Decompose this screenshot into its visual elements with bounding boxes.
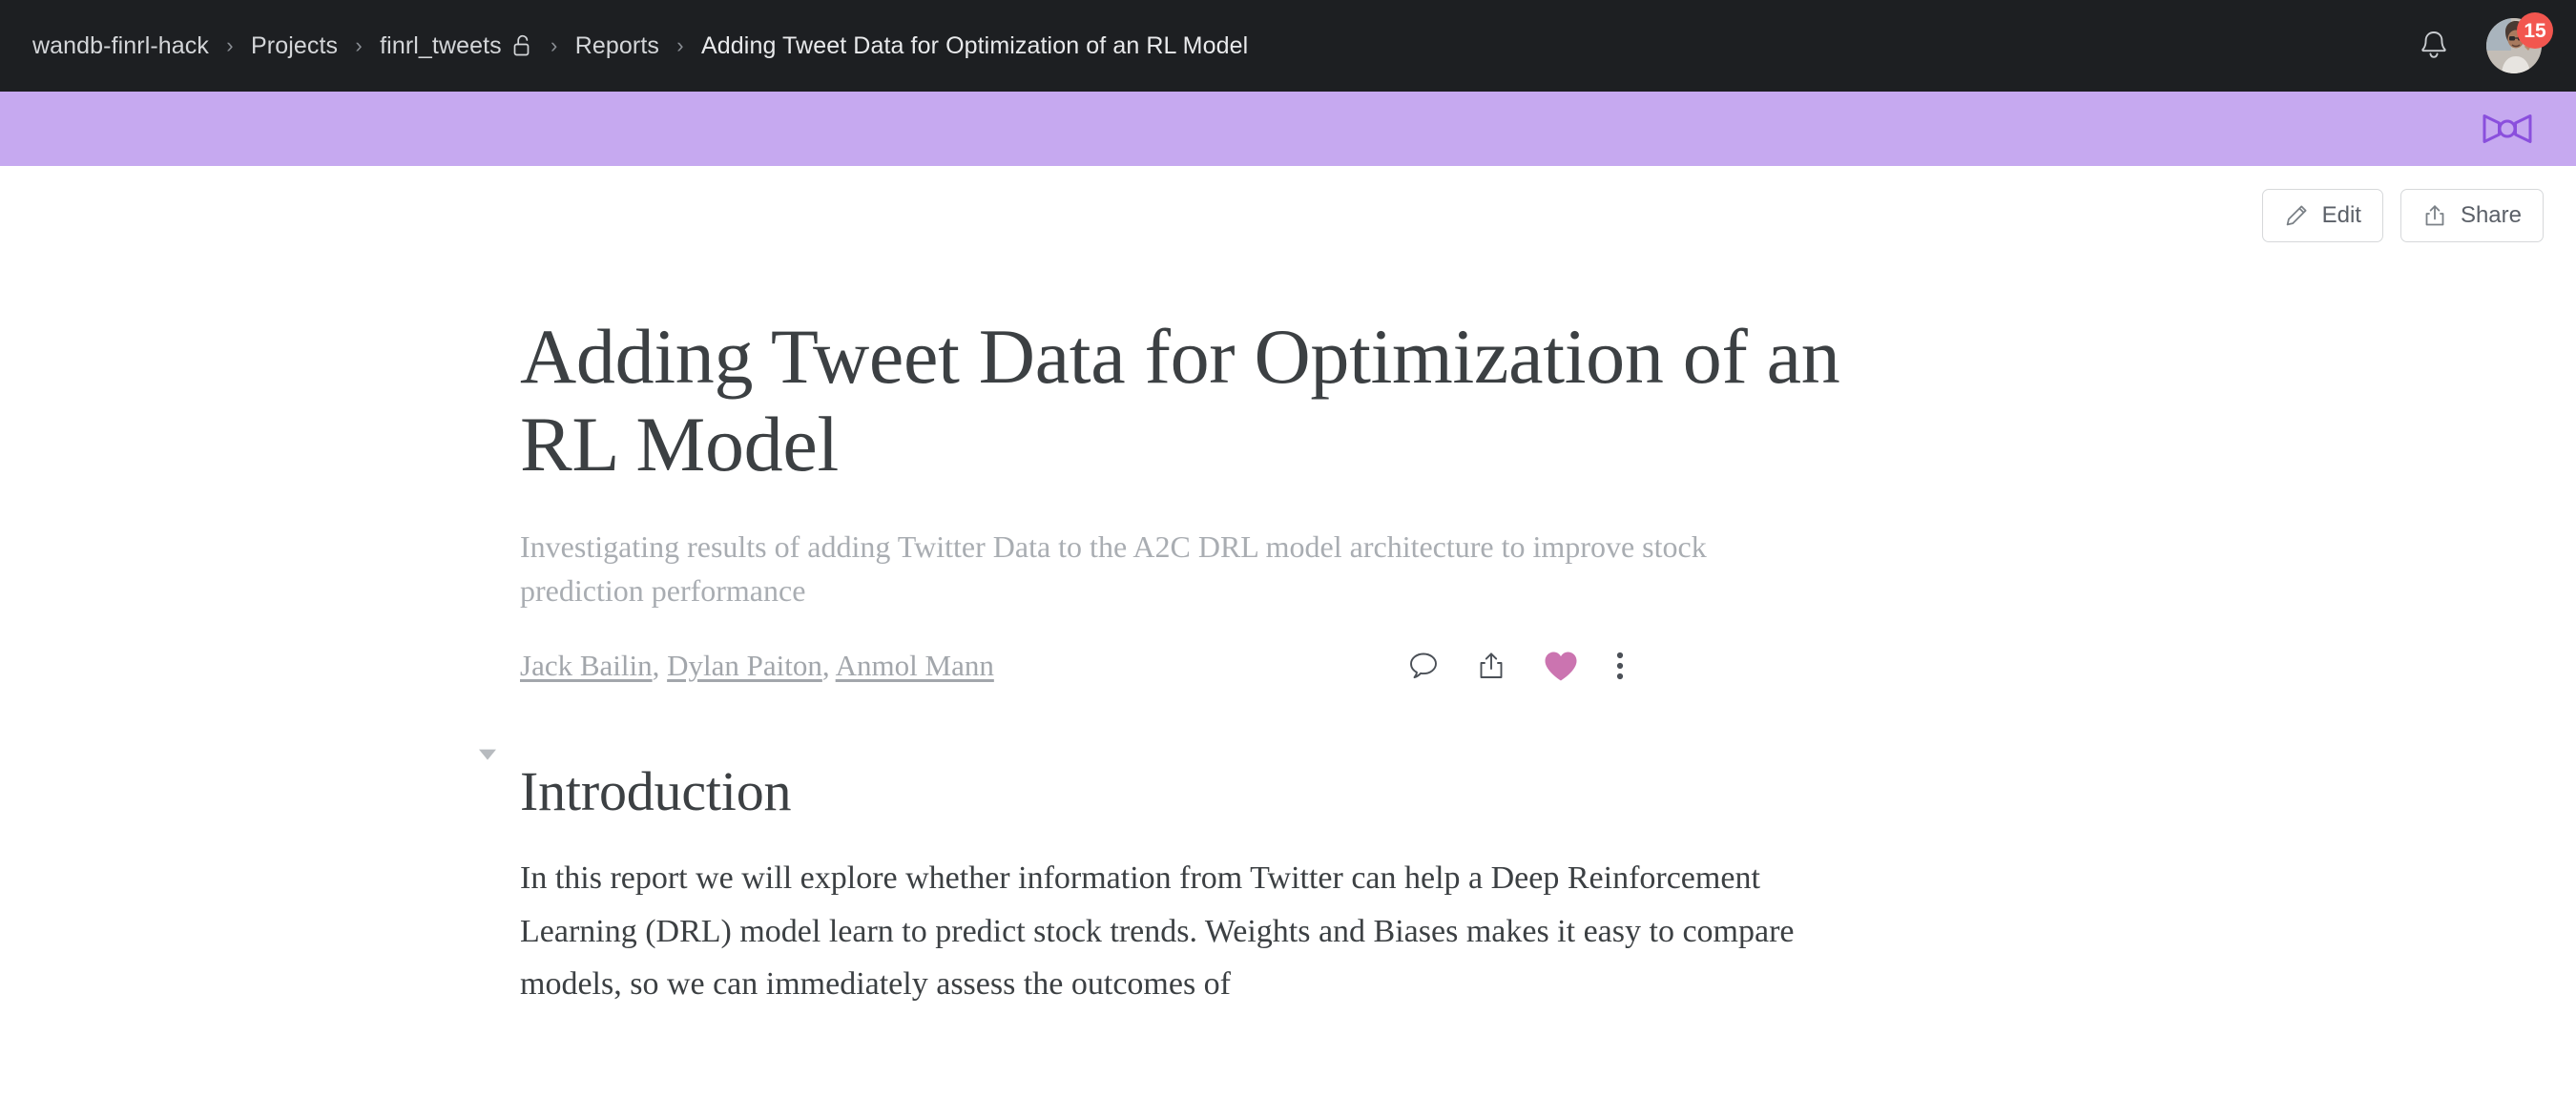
author-separator: , bbox=[653, 649, 668, 682]
user-avatar-wrapper[interactable]: 15 bbox=[2486, 18, 2542, 73]
author-link[interactable]: Anmol Mann bbox=[836, 649, 994, 682]
breadcrumb-separator: › bbox=[533, 33, 575, 58]
breadcrumb-item-projects[interactable]: Projects bbox=[251, 32, 338, 60]
share-icon bbox=[2422, 203, 2447, 228]
breadcrumb-separator: › bbox=[209, 33, 251, 58]
breadcrumb-projects-label: Projects bbox=[251, 32, 338, 60]
edit-button[interactable]: Edit bbox=[2262, 189, 2383, 242]
author-list: Jack Bailin, Dylan Paiton, Anmol Mann bbox=[520, 649, 994, 683]
section-paragraph: In this report we will explore whether i… bbox=[520, 823, 1875, 1009]
section-introduction-header: Introduction bbox=[520, 683, 1875, 823]
top-navigation-bar: wandb-finrl-hack › Projects › finrl_twee… bbox=[0, 0, 2576, 92]
more-options-icon[interactable] bbox=[1615, 650, 1625, 682]
bell-icon[interactable] bbox=[2418, 29, 2450, 63]
author-separator: , bbox=[822, 649, 836, 682]
top-bar-right-cluster: 15 bbox=[2418, 18, 2544, 73]
heart-icon[interactable] bbox=[1543, 650, 1579, 682]
report-page: Adding Tweet Data for Optimization of an… bbox=[0, 265, 2576, 1010]
share-icon[interactable] bbox=[1476, 650, 1506, 682]
author-link[interactable]: Jack Bailin bbox=[520, 649, 653, 682]
unlock-icon bbox=[512, 33, 533, 58]
breadcrumb-separator: › bbox=[338, 33, 380, 58]
breadcrumb: wandb-finrl-hack › Projects › finrl_twee… bbox=[32, 32, 1248, 60]
section-heading: Introduction bbox=[520, 759, 791, 823]
wandb-bowtie-logo-icon bbox=[2483, 111, 2532, 147]
breadcrumb-item-reports[interactable]: Reports bbox=[575, 32, 659, 60]
breadcrumb-current-label: Adding Tweet Data for Optimization of an… bbox=[701, 32, 1248, 60]
report-social-actions bbox=[1407, 650, 1875, 682]
breadcrumb-project-label: finrl_tweets bbox=[380, 32, 502, 60]
breadcrumb-separator: › bbox=[659, 33, 701, 58]
report-subtitle: Investigating results of adding Twitter … bbox=[520, 488, 1789, 613]
breadcrumb-item-project[interactable]: finrl_tweets bbox=[380, 32, 533, 60]
breadcrumb-item-entity[interactable]: wandb-finrl-hack bbox=[32, 32, 209, 60]
breadcrumb-reports-label: Reports bbox=[575, 32, 659, 60]
page-title: Adding Tweet Data for Optimization of an… bbox=[520, 265, 1875, 488]
share-button[interactable]: Share bbox=[2400, 189, 2544, 242]
author-link[interactable]: Dylan Paiton bbox=[667, 649, 822, 682]
report-cover-banner bbox=[0, 92, 2576, 166]
report-action-bar: Edit Share bbox=[0, 166, 2576, 265]
pencil-icon bbox=[2284, 203, 2309, 228]
caret-down-icon[interactable] bbox=[479, 750, 496, 760]
share-button-label: Share bbox=[2461, 202, 2522, 229]
report-content: Adding Tweet Data for Optimization of an… bbox=[520, 265, 1875, 1010]
notification-count-badge: 15 bbox=[2517, 12, 2553, 49]
comment-icon[interactable] bbox=[1407, 650, 1440, 682]
byline-row: Jack Bailin, Dylan Paiton, Anmol Mann bbox=[520, 612, 1875, 683]
breadcrumb-entity-label: wandb-finrl-hack bbox=[32, 32, 209, 60]
edit-button-label: Edit bbox=[2322, 202, 2361, 229]
breadcrumb-item-current-report: Adding Tweet Data for Optimization of an… bbox=[701, 32, 1248, 60]
